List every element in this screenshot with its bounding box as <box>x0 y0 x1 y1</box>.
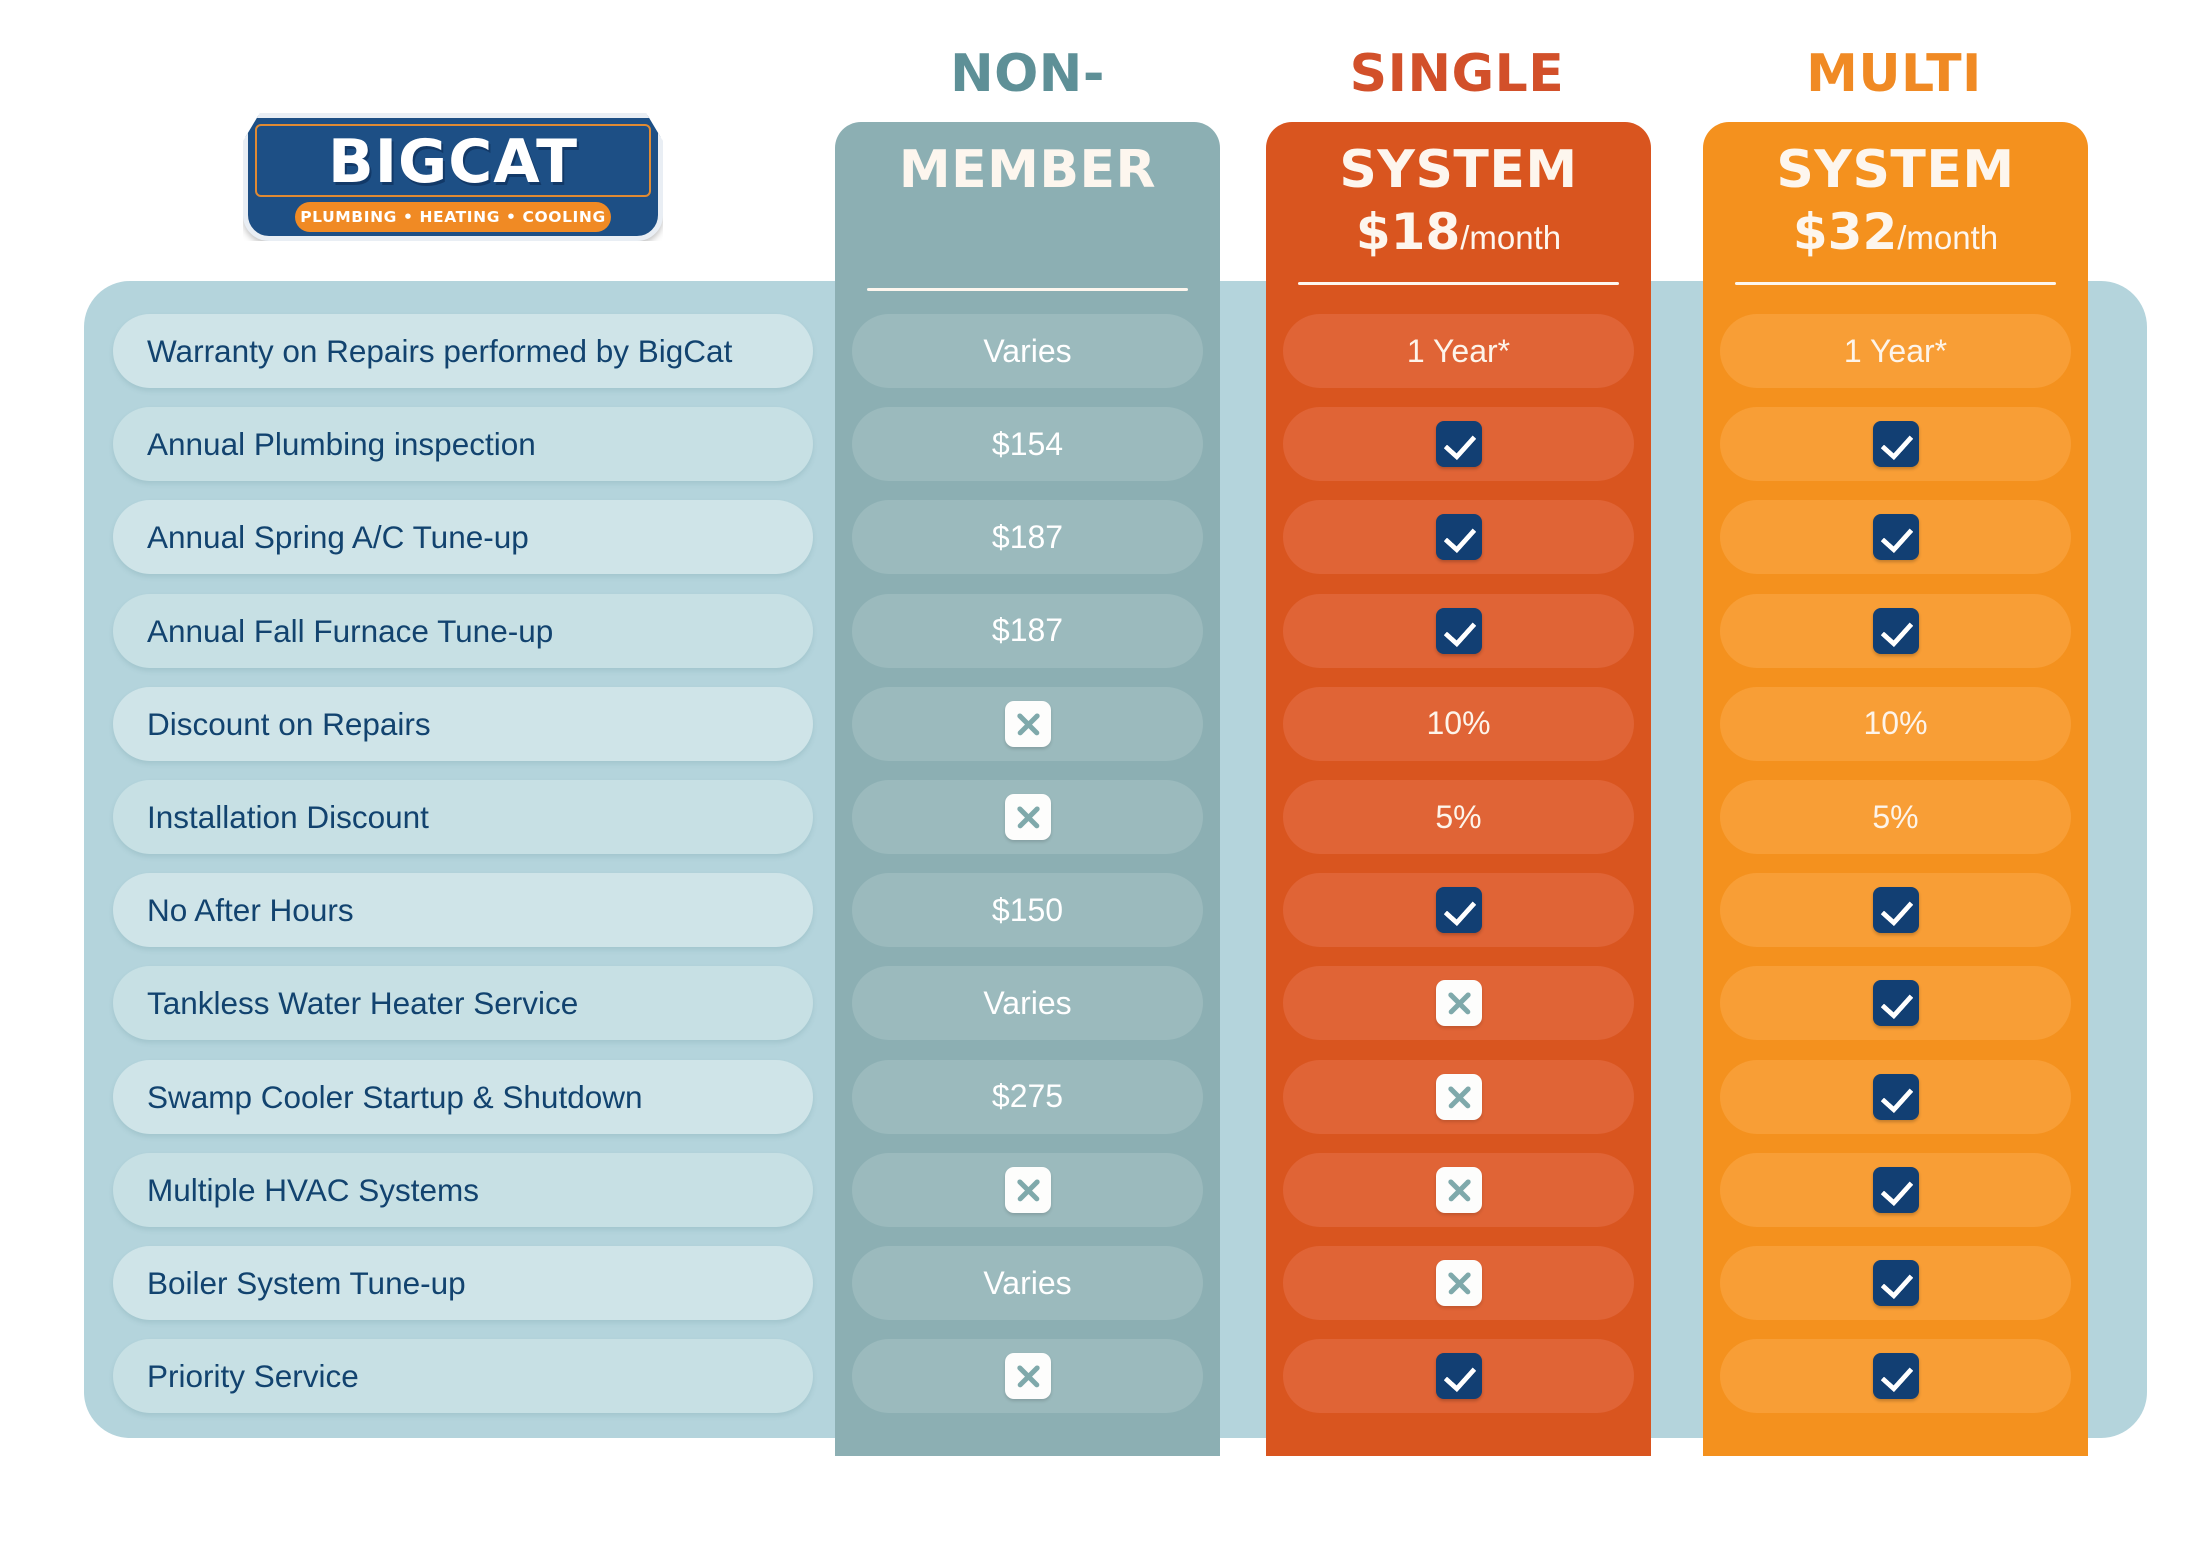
value-cell <box>1283 1153 1634 1227</box>
cross-icon <box>1005 1167 1051 1213</box>
check-icon <box>1873 421 1919 467</box>
value-cell <box>1720 966 2071 1040</box>
value-cell: 5% <box>1720 780 2071 854</box>
value-cell: Varies <box>852 314 1203 388</box>
cross-icon <box>1005 701 1051 747</box>
value-cell: $275 <box>852 1060 1203 1134</box>
value-cell <box>852 780 1203 854</box>
feature-label: Swamp Cooler Startup & Shutdown <box>147 1060 643 1134</box>
cross-icon <box>1436 1074 1482 1120</box>
cross-icon <box>1436 980 1482 1026</box>
cross-icon <box>1005 1353 1051 1399</box>
check-icon <box>1436 1353 1482 1399</box>
value-text: 5% <box>1435 799 1481 836</box>
cross-icon <box>1436 1167 1482 1213</box>
check-icon <box>1873 1167 1919 1213</box>
feature-label: Annual Plumbing inspection <box>147 407 536 481</box>
cross-icon <box>1005 794 1051 840</box>
feature-label: Multiple HVAC Systems <box>147 1153 479 1227</box>
check-icon <box>1873 514 1919 560</box>
check-icon <box>1873 887 1919 933</box>
value-cell <box>1283 500 1634 574</box>
value-cell: $187 <box>852 500 1203 574</box>
value-cell <box>1720 594 2071 668</box>
check-icon <box>1873 1260 1919 1306</box>
feature-row: Discount on Repairs <box>113 687 813 761</box>
check-icon <box>1436 887 1482 933</box>
value-cell <box>1720 873 2071 947</box>
feature-label: Annual Fall Furnace Tune-up <box>147 594 553 668</box>
feature-row: Warranty on Repairs performed by BigCat <box>113 314 813 388</box>
value-cell <box>1720 1246 2071 1320</box>
value-text: 1 Year* <box>1407 333 1510 370</box>
value-cell: Varies <box>852 966 1203 1040</box>
feature-row: Annual Spring A/C Tune-up <box>113 500 813 574</box>
feature-row: No After Hours <box>113 873 813 947</box>
feature-row: Tankless Water Heater Service <box>113 966 813 1040</box>
feature-label: Boiler System Tune-up <box>147 1246 466 1320</box>
check-icon <box>1873 980 1919 1026</box>
check-icon <box>1436 514 1482 560</box>
feature-row: Annual Fall Furnace Tune-up <box>113 594 813 668</box>
value-cell <box>1720 1060 2071 1134</box>
value-text: 10% <box>1426 705 1490 742</box>
value-text: Varies <box>983 333 1071 370</box>
feature-row: Boiler System Tune-up <box>113 1246 813 1320</box>
check-icon <box>1873 1353 1919 1399</box>
feature-label: Tankless Water Heater Service <box>147 966 578 1040</box>
value-text: $150 <box>992 892 1063 929</box>
feature-label: Installation Discount <box>147 780 429 854</box>
value-cell <box>1283 407 1634 481</box>
check-icon <box>1436 608 1482 654</box>
value-cell <box>1283 594 1634 668</box>
value-text: $187 <box>992 612 1063 649</box>
value-cell <box>852 1339 1203 1413</box>
value-text: 10% <box>1863 705 1927 742</box>
value-cell: $187 <box>852 594 1203 668</box>
value-cell: Varies <box>852 1246 1203 1320</box>
feature-label: No After Hours <box>147 873 354 947</box>
value-cell <box>1283 1339 1634 1413</box>
feature-row: Multiple HVAC Systems <box>113 1153 813 1227</box>
value-cell <box>1283 966 1634 1040</box>
value-cell <box>852 687 1203 761</box>
value-cell <box>1283 1060 1634 1134</box>
feature-row: Priority Service <box>113 1339 813 1413</box>
value-text: Varies <box>983 985 1071 1022</box>
value-text: 5% <box>1872 799 1918 836</box>
feature-row: Installation Discount <box>113 780 813 854</box>
value-cell <box>1720 500 2071 574</box>
value-cell <box>852 1153 1203 1227</box>
cross-icon <box>1436 1260 1482 1306</box>
value-cell <box>1720 1339 2071 1413</box>
feature-label: Warranty on Repairs performed by BigCat <box>147 314 732 388</box>
value-text: $275 <box>992 1078 1063 1115</box>
value-cell: 10% <box>1720 687 2071 761</box>
value-cell: 1 Year* <box>1283 314 1634 388</box>
feature-label: Discount on Repairs <box>147 687 431 761</box>
feature-label: Annual Spring A/C Tune-up <box>147 500 529 574</box>
value-text: Varies <box>983 1265 1071 1302</box>
value-cell: $150 <box>852 873 1203 947</box>
check-icon <box>1873 1074 1919 1120</box>
check-icon <box>1873 608 1919 654</box>
check-icon <box>1436 421 1482 467</box>
feature-label: Priority Service <box>147 1339 359 1413</box>
value-cell: $154 <box>852 407 1203 481</box>
value-cell <box>1720 1153 2071 1227</box>
value-cell <box>1283 1246 1634 1320</box>
feature-row: Swamp Cooler Startup & Shutdown <box>113 1060 813 1134</box>
comparison-rows: Warranty on Repairs performed by BigCatV… <box>0 0 2200 1555</box>
value-cell: 1 Year* <box>1720 314 2071 388</box>
value-cell <box>1283 873 1634 947</box>
value-text: $154 <box>992 426 1063 463</box>
value-text: $187 <box>992 519 1063 556</box>
value-cell: 10% <box>1283 687 1634 761</box>
value-text: 1 Year* <box>1844 333 1947 370</box>
value-cell <box>1720 407 2071 481</box>
feature-row: Annual Plumbing inspection <box>113 407 813 481</box>
value-cell: 5% <box>1283 780 1634 854</box>
